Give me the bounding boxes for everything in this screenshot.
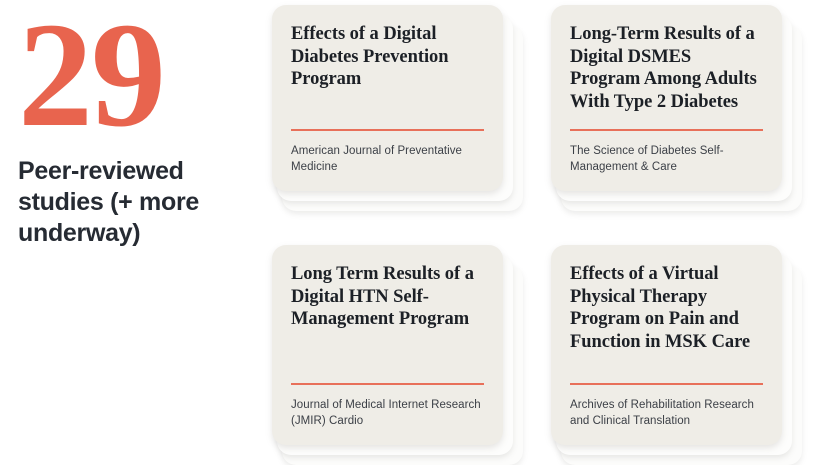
- card-divider: [570, 383, 763, 385]
- card-spacer: [291, 331, 484, 384]
- stat-caption: Peer-reviewed studies (+ more underway): [18, 152, 208, 249]
- study-card[interactable]: Long-Term Results of a Digital DSMES Pro…: [551, 5, 782, 191]
- stat-block: 29 Peer-reviewed studies (+ more underwa…: [18, 0, 248, 249]
- study-card-title: Effects of a Digital Diabetes Prevention…: [291, 23, 484, 91]
- card-spacer: [570, 353, 763, 383]
- study-card-journal: The Science of Diabetes Self-Management …: [570, 144, 763, 191]
- study-card-title: Long Term Results of a Digital HTN Self-…: [291, 263, 484, 331]
- study-card-title: Effects of a Virtual Physical Therapy Pr…: [570, 263, 763, 353]
- study-card-title: Long-Term Results of a Digital DSMES Pro…: [570, 23, 763, 113]
- study-card-journal: American Journal of Preventative Medicin…: [291, 144, 484, 191]
- study-card[interactable]: Long Term Results of a Digital HTN Self-…: [272, 245, 503, 445]
- card-spacer: [570, 113, 763, 129]
- study-card-stack[interactable]: Effects of a Virtual Physical Therapy Pr…: [551, 245, 782, 445]
- study-card-stack[interactable]: Effects of a Digital Diabetes Prevention…: [272, 5, 503, 191]
- card-divider: [570, 129, 763, 131]
- stat-number: 29: [18, 0, 248, 152]
- study-card[interactable]: Effects of a Digital Diabetes Prevention…: [272, 5, 503, 191]
- study-card-stack[interactable]: Long Term Results of a Digital HTN Self-…: [272, 245, 503, 445]
- study-card-stack[interactable]: Long-Term Results of a Digital DSMES Pro…: [551, 5, 782, 191]
- study-card-grid: Effects of a Digital Diabetes Prevention…: [272, 0, 816, 454]
- card-spacer: [291, 91, 484, 130]
- study-card-journal: Archives of Rehabilitation Research and …: [570, 398, 763, 445]
- study-card[interactable]: Effects of a Virtual Physical Therapy Pr…: [551, 245, 782, 445]
- study-card-journal: Journal of Medical Internet Research (JM…: [291, 398, 484, 445]
- card-divider: [291, 129, 484, 131]
- card-divider: [291, 383, 484, 385]
